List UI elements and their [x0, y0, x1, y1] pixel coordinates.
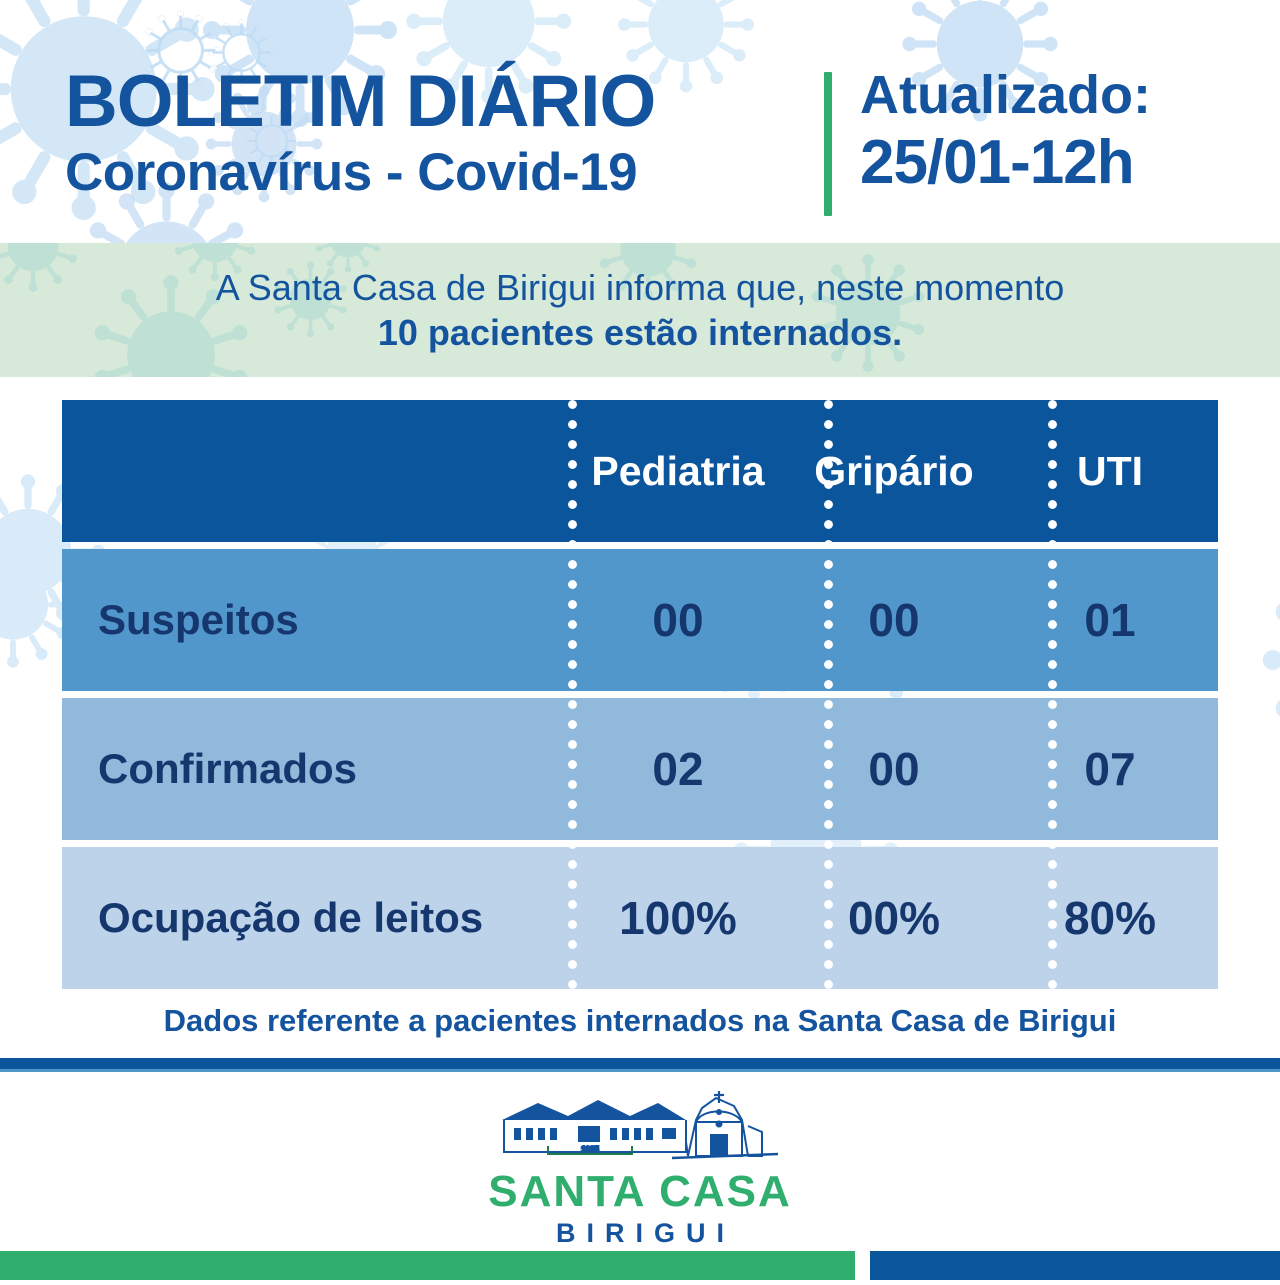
table-corner-cell	[62, 400, 570, 542]
logo-name-secondary: BIRIGUI	[545, 1220, 735, 1247]
cell-confirmados-pediatria: 02	[570, 698, 786, 840]
footer-bar-blue	[870, 1251, 1280, 1280]
table-row: Confirmados 02 00 07	[62, 698, 1218, 840]
footnote: Dados referente a pacientes internados n…	[0, 1003, 1280, 1039]
column-header-uti: UTI	[1002, 400, 1218, 542]
cell-suspeitos-uti: 01	[1002, 549, 1218, 691]
page-subtitle: Coronavírus - Covid-19	[65, 146, 805, 199]
footer-bar-green	[0, 1251, 855, 1280]
table-header-row: Pediatria Gripário UTI	[62, 400, 1218, 542]
hospital-building-icon: 1935	[490, 1090, 790, 1168]
header-date-block: Atualizado: 25/01-12h	[860, 68, 1260, 194]
cell-suspeitos-pediatria: 00	[570, 549, 786, 691]
logo-name-primary: SANTA CASA	[488, 1170, 792, 1214]
cell-confirmados-gripario: 00	[786, 698, 1002, 840]
column-header-gripario: Gripário	[786, 400, 1002, 542]
cell-suspeitos-gripario: 00	[786, 549, 1002, 691]
status-banner: A Santa Casa de Birigui informa que, nes…	[0, 243, 1280, 377]
row-label-confirmados: Confirmados	[62, 698, 570, 840]
founding-year: 1935	[581, 1145, 599, 1154]
banner-line-2: 10 pacientes estão internados.	[378, 310, 902, 355]
header: BOLETIM DIÁRIO Coronavírus - Covid-19 At…	[0, 0, 1280, 243]
cell-confirmados-uti: 07	[1002, 698, 1218, 840]
row-label-suspeitos: Suspeitos	[62, 549, 570, 691]
column-header-pediatria: Pediatria	[570, 400, 786, 542]
cell-ocupacao-uti: 80%	[1002, 847, 1218, 989]
cell-ocupacao-gripario: 00%	[786, 847, 1002, 989]
banner-line-1: A Santa Casa de Birigui informa que, nes…	[216, 265, 1064, 310]
occupancy-table: Pediatria Gripário UTI Suspeitos 00 00 0…	[62, 400, 1218, 989]
page-title: BOLETIM DIÁRIO	[65, 66, 805, 138]
header-title-block: BOLETIM DIÁRIO Coronavírus - Covid-19	[65, 66, 805, 199]
cell-ocupacao-pediatria: 100%	[570, 847, 786, 989]
table-row: Suspeitos 00 00 01	[62, 549, 1218, 691]
santa-casa-logo: 1935 SANTA CASA BIRIGUI	[0, 1090, 1280, 1247]
header-divider	[824, 72, 832, 216]
footnote-text: Dados referente a pacientes internados n…	[164, 1003, 1117, 1038]
update-timestamp: 25/01-12h	[860, 132, 1260, 194]
update-label: Atualizado:	[860, 68, 1260, 122]
divider-thick	[0, 1058, 1280, 1069]
row-label-ocupacao: Ocupação de leitos	[62, 847, 570, 989]
divider-thin	[0, 1069, 1280, 1072]
table-row: Ocupação de leitos 100% 00% 80%	[62, 847, 1218, 989]
